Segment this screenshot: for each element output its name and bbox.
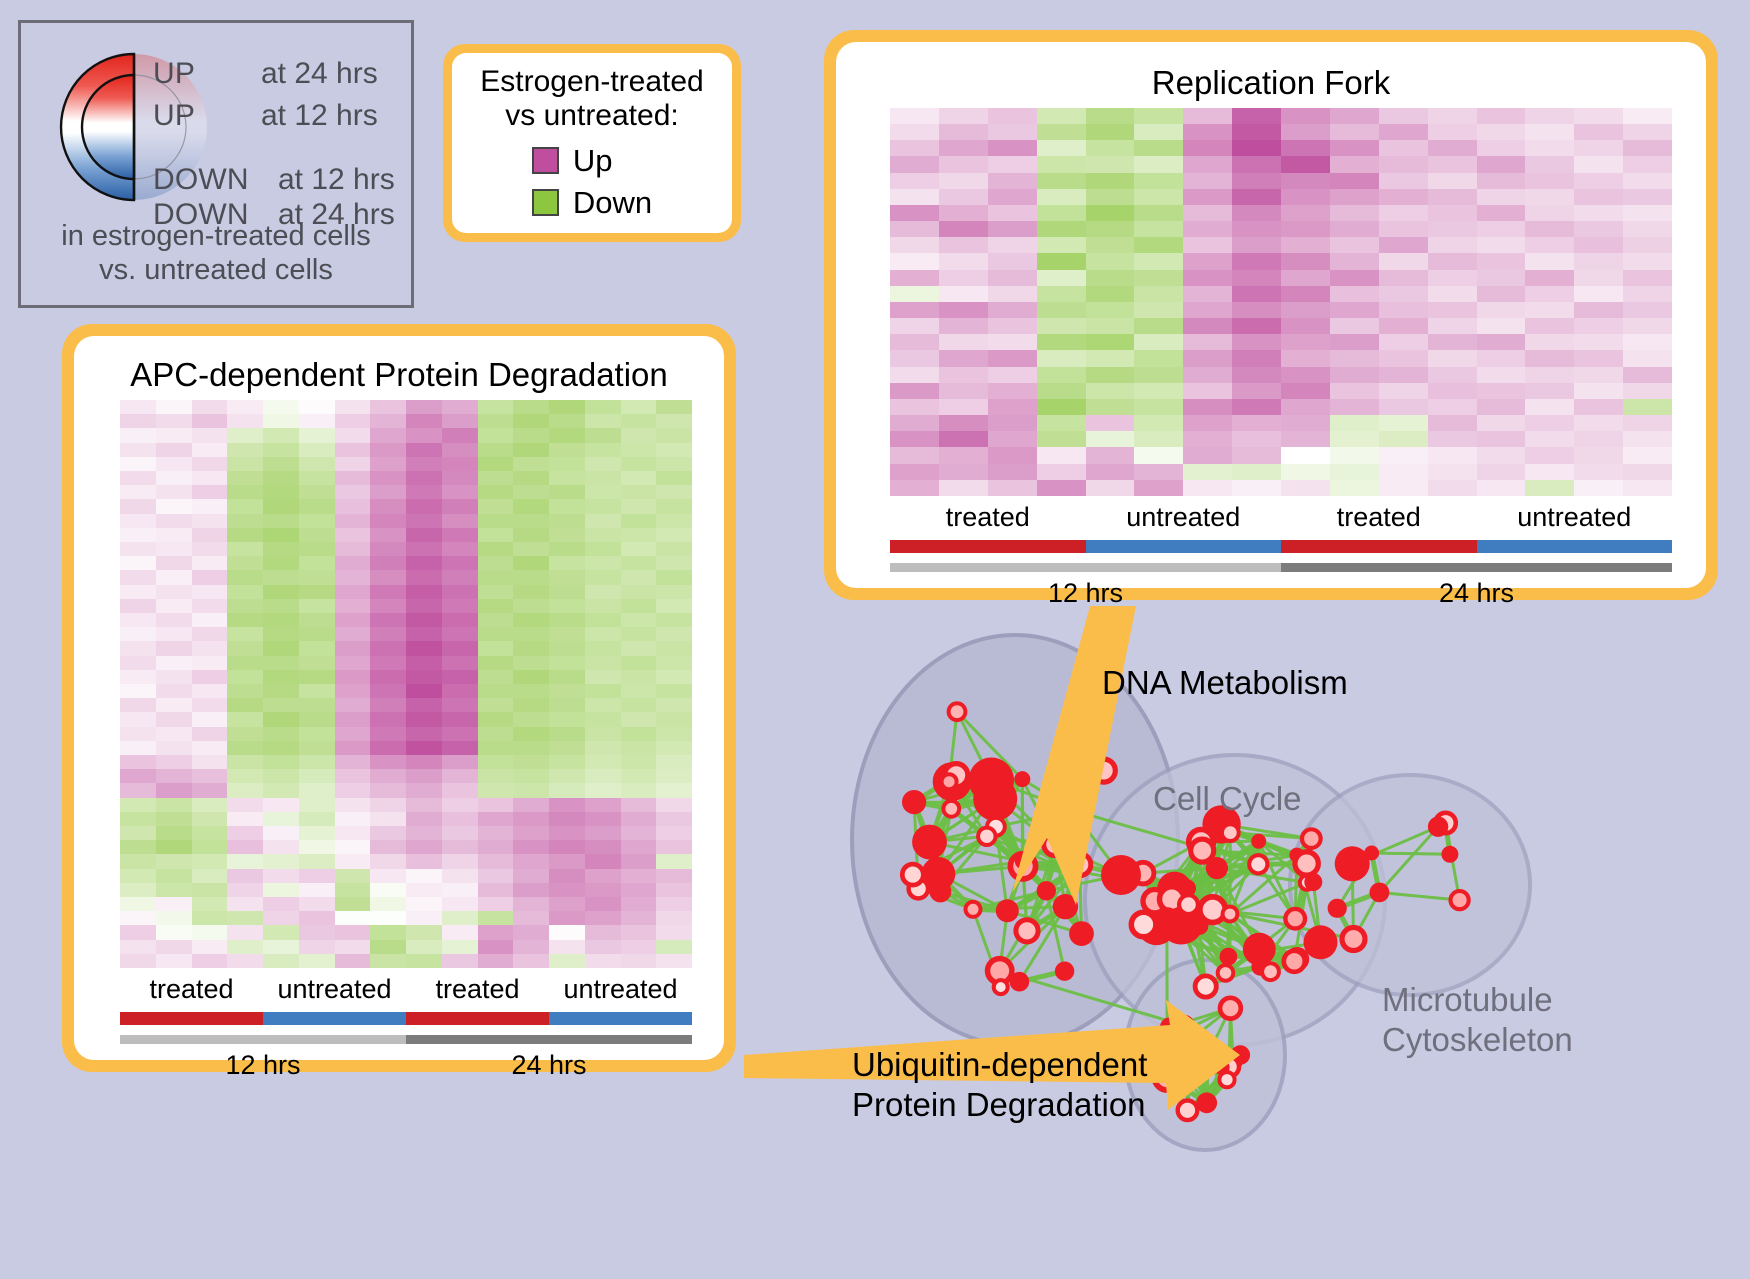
network-node[interactable] bbox=[1069, 854, 1091, 876]
network-node[interactable] bbox=[1175, 1017, 1193, 1035]
heatmap-cell bbox=[478, 911, 514, 925]
heatmap-cell bbox=[299, 698, 335, 712]
network-node[interactable] bbox=[1016, 920, 1038, 942]
network-node[interactable] bbox=[1243, 933, 1276, 966]
heatmap-cell bbox=[549, 499, 585, 513]
heatmap-cell bbox=[120, 897, 156, 911]
heatmap-cell bbox=[192, 443, 228, 457]
network-node[interactable] bbox=[1251, 834, 1266, 849]
network-node[interactable] bbox=[1222, 824, 1239, 841]
network-edge bbox=[1023, 865, 1080, 867]
network-node[interactable] bbox=[1206, 857, 1228, 879]
heatmap-cell bbox=[1379, 447, 1428, 463]
heatmap-cell bbox=[1525, 302, 1574, 318]
heatmap-cell bbox=[478, 599, 514, 613]
heatmap-cell bbox=[1232, 415, 1281, 431]
heatmap-cell bbox=[1281, 270, 1330, 286]
network-node[interactable] bbox=[1015, 854, 1030, 869]
heatmap-cell bbox=[263, 670, 299, 684]
heatmap-cell bbox=[156, 712, 192, 726]
heatmap-cell bbox=[227, 585, 263, 599]
network-node[interactable] bbox=[987, 818, 1005, 836]
heatmap-cell bbox=[656, 499, 692, 513]
heatmap-cell bbox=[513, 798, 549, 812]
network-edge bbox=[938, 874, 973, 909]
network-node[interactable] bbox=[912, 825, 947, 860]
heatmap-cell bbox=[335, 641, 371, 655]
heatmap-cell bbox=[1574, 124, 1623, 140]
network-node[interactable] bbox=[1178, 1101, 1198, 1121]
heatmap-cell bbox=[156, 428, 192, 442]
network-node[interactable] bbox=[942, 774, 957, 789]
heatmap-replication-fork bbox=[890, 108, 1672, 496]
network-node[interactable] bbox=[996, 899, 1019, 922]
heatmap-cell bbox=[1330, 270, 1379, 286]
heatmap-cell bbox=[1281, 124, 1330, 140]
network-node[interactable] bbox=[902, 864, 923, 885]
network-node[interactable] bbox=[1302, 829, 1321, 848]
heatmap-cell bbox=[263, 954, 299, 968]
heatmap-cell bbox=[156, 954, 192, 968]
network-edge bbox=[1297, 839, 1311, 856]
heatmap-cell bbox=[1183, 447, 1232, 463]
heatmap-cell bbox=[370, 826, 406, 840]
network-edge bbox=[1207, 1059, 1233, 1102]
heatmap-cell bbox=[478, 798, 514, 812]
heatmap-cell bbox=[406, 457, 442, 471]
heatmap-cell bbox=[1477, 237, 1526, 253]
heatmap-cell bbox=[299, 755, 335, 769]
network-node[interactable] bbox=[943, 801, 959, 817]
heatmap-cell bbox=[335, 528, 371, 542]
network-node[interactable] bbox=[1136, 905, 1176, 945]
network-node[interactable] bbox=[1179, 895, 1198, 914]
heatmap-cell bbox=[890, 480, 939, 496]
network-edge bbox=[1213, 910, 1230, 914]
network-node[interactable] bbox=[1222, 1050, 1237, 1065]
time-label: 12 hrs bbox=[120, 1050, 406, 1081]
heatmap-cell bbox=[656, 471, 692, 485]
heatmap-cell bbox=[120, 670, 156, 684]
heatmap-cell bbox=[478, 457, 514, 471]
heatmap-cell bbox=[299, 854, 335, 868]
heatmap-cell bbox=[335, 769, 371, 783]
network-node[interactable] bbox=[909, 879, 928, 898]
network-node[interactable] bbox=[1335, 846, 1370, 881]
heatmap-cell bbox=[1232, 140, 1281, 156]
heatmap-cell bbox=[406, 528, 442, 542]
network-edge bbox=[1167, 1041, 1193, 1078]
heatmap-cell bbox=[1623, 480, 1672, 496]
network-edge bbox=[1188, 1067, 1230, 1111]
network-edge bbox=[991, 780, 1072, 810]
heatmap-cell bbox=[1574, 464, 1623, 480]
heatmap-cell bbox=[1477, 253, 1526, 269]
heatmap-cell bbox=[478, 585, 514, 599]
treatment-bar bbox=[263, 1012, 406, 1025]
network-edge bbox=[991, 780, 996, 827]
heatmap-cell bbox=[1086, 286, 1135, 302]
heatmap-cell bbox=[335, 812, 371, 826]
network-node[interactable] bbox=[1262, 963, 1279, 980]
heatmap-cell bbox=[478, 542, 514, 556]
heatmap-cell bbox=[585, 925, 621, 939]
heatmap-cell bbox=[1623, 367, 1672, 383]
heatmap-cell bbox=[939, 399, 988, 415]
heatmap-cell bbox=[442, 698, 478, 712]
network-edge bbox=[949, 712, 957, 782]
heatmap-cell bbox=[227, 854, 263, 868]
network-node[interactable] bbox=[1220, 998, 1241, 1019]
heatmap-cell bbox=[299, 485, 335, 499]
network-node[interactable] bbox=[1178, 879, 1196, 897]
heatmap-cell bbox=[442, 812, 478, 826]
heatmap-cell bbox=[1281, 464, 1330, 480]
heatmap-cell bbox=[1623, 464, 1672, 480]
network-node[interactable] bbox=[1010, 972, 1030, 992]
heatmap-cell bbox=[335, 954, 371, 968]
network-node[interactable] bbox=[1451, 891, 1469, 909]
network-edge bbox=[1228, 914, 1230, 957]
heatmap-cell bbox=[1330, 205, 1379, 221]
heatmap-cell bbox=[656, 712, 692, 726]
network-node[interactable] bbox=[1069, 921, 1094, 946]
heatmap-cell bbox=[406, 925, 442, 939]
network-edge bbox=[1260, 919, 1295, 967]
heatmap-cell bbox=[549, 812, 585, 826]
heatmap-cell bbox=[1134, 286, 1183, 302]
heatmap-cell bbox=[335, 585, 371, 599]
network-node[interactable] bbox=[1285, 909, 1305, 929]
network-node[interactable] bbox=[988, 959, 1012, 983]
heatmap-cell bbox=[1379, 140, 1428, 156]
heatmap-cell bbox=[263, 656, 299, 670]
network-node[interactable] bbox=[1186, 1033, 1201, 1048]
network-node[interactable] bbox=[933, 762, 972, 801]
network-edge bbox=[1230, 841, 1259, 914]
network-edge bbox=[1201, 841, 1259, 842]
network-node[interactable] bbox=[949, 703, 966, 720]
treatment-bar bbox=[120, 1012, 263, 1025]
heatmap-cell bbox=[442, 499, 478, 513]
network-node[interactable] bbox=[1251, 958, 1269, 976]
network-node[interactable] bbox=[1284, 951, 1305, 972]
heatmap-cell bbox=[1183, 173, 1232, 189]
network-edge bbox=[949, 779, 1022, 782]
network-node[interactable] bbox=[1154, 1065, 1180, 1091]
heatmap-cell bbox=[1281, 415, 1330, 431]
network-edge bbox=[995, 799, 1022, 862]
heatmap-cell bbox=[1232, 189, 1281, 205]
heatmap-cell bbox=[890, 350, 939, 366]
heatmap-cell bbox=[156, 727, 192, 741]
heatmap-cell bbox=[988, 286, 1037, 302]
heatmap-cell bbox=[1428, 221, 1477, 237]
network-node[interactable] bbox=[1189, 830, 1214, 855]
network-node[interactable] bbox=[994, 980, 1008, 994]
heatmap-cell bbox=[549, 627, 585, 641]
network-node[interactable] bbox=[1200, 897, 1226, 923]
heatmap-cell bbox=[406, 826, 442, 840]
heatmap-cell bbox=[299, 940, 335, 954]
heatmap-cell bbox=[370, 457, 406, 471]
legend-swatch-down-icon bbox=[532, 189, 559, 216]
heatmap-cell bbox=[156, 656, 192, 670]
network-edge bbox=[1207, 1058, 1230, 1103]
network-edge bbox=[1213, 833, 1231, 910]
heatmap-cell bbox=[585, 443, 621, 457]
heatmap-cell bbox=[192, 585, 228, 599]
network-edge bbox=[1217, 855, 1297, 868]
heatmap-cell bbox=[1477, 447, 1526, 463]
network-node[interactable] bbox=[1222, 1049, 1243, 1070]
network-edge bbox=[1307, 864, 1314, 883]
network-node[interactable] bbox=[1092, 759, 1115, 782]
network-node[interactable] bbox=[1218, 965, 1234, 981]
heatmap-cell bbox=[406, 542, 442, 556]
heatmap-cell bbox=[478, 954, 514, 968]
heatmap-cell bbox=[120, 656, 156, 670]
heatmap-cell bbox=[1330, 431, 1379, 447]
network-node[interactable] bbox=[1157, 872, 1192, 907]
network-edge bbox=[1167, 1058, 1230, 1078]
heatmap-cell bbox=[1477, 286, 1526, 302]
network-node[interactable] bbox=[1304, 925, 1338, 959]
heatmap-cell bbox=[1086, 173, 1135, 189]
heatmap-cell bbox=[156, 755, 192, 769]
network-edge bbox=[1143, 868, 1217, 873]
heatmap-cell bbox=[988, 431, 1037, 447]
network-edge bbox=[1228, 949, 1259, 957]
network-edge bbox=[1187, 888, 1189, 904]
network-edge bbox=[1027, 865, 1080, 931]
network-edge bbox=[1297, 855, 1307, 863]
network-node[interactable] bbox=[1063, 801, 1082, 820]
network-edge bbox=[1226, 919, 1296, 973]
network-node[interactable] bbox=[1055, 962, 1074, 981]
network-node[interactable] bbox=[1220, 948, 1238, 966]
heatmap-cell bbox=[299, 727, 335, 741]
heatmap-cell bbox=[549, 585, 585, 599]
network-edge bbox=[1157, 1044, 1207, 1103]
heatmap-cell bbox=[1037, 399, 1086, 415]
heatmap-cell bbox=[1623, 270, 1672, 286]
heatmap-cell bbox=[656, 854, 692, 868]
heatmap-cell bbox=[370, 428, 406, 442]
heatmap-cell bbox=[156, 854, 192, 868]
network-edge bbox=[1157, 922, 1182, 925]
network-node[interactable] bbox=[1219, 1057, 1239, 1077]
network-node[interactable] bbox=[1014, 771, 1030, 787]
network-node[interactable] bbox=[1064, 863, 1081, 880]
heatmap-cell bbox=[1281, 302, 1330, 318]
network-edge bbox=[1065, 907, 1081, 934]
network-edge bbox=[1155, 901, 1213, 910]
network-edge bbox=[1155, 901, 1167, 919]
network-edge bbox=[1175, 864, 1259, 908]
heatmap-cell bbox=[988, 399, 1037, 415]
heatmap-cell bbox=[120, 826, 156, 840]
network-node[interactable] bbox=[1364, 846, 1379, 861]
network-edge bbox=[1027, 907, 1065, 931]
network-node[interactable] bbox=[1160, 1017, 1180, 1037]
color-key-footer: in estrogen-treated cells vs. untreated … bbox=[21, 219, 411, 287]
network-node[interactable] bbox=[1195, 976, 1216, 997]
network-node[interactable] bbox=[1131, 912, 1156, 937]
heatmap-cell bbox=[621, 911, 657, 925]
heatmap-cell bbox=[1477, 221, 1526, 237]
heatmap-cell bbox=[156, 443, 192, 457]
network-edge bbox=[1007, 891, 1046, 911]
network-edge bbox=[1170, 1027, 1207, 1103]
network-edge bbox=[1144, 925, 1229, 957]
network-node[interactable] bbox=[1295, 852, 1318, 875]
heatmap-cell bbox=[263, 400, 299, 414]
heatmap-cell bbox=[988, 318, 1037, 334]
heatmap-cell bbox=[621, 499, 657, 513]
heatmap-cell bbox=[442, 599, 478, 613]
network-edge bbox=[956, 775, 995, 799]
network-edge bbox=[1175, 909, 1182, 922]
heatmap-cell bbox=[1134, 415, 1183, 431]
heatmap-cell bbox=[1183, 205, 1232, 221]
heatmap-cell bbox=[585, 528, 621, 542]
network-node[interactable] bbox=[1149, 1036, 1164, 1051]
network-node[interactable] bbox=[966, 902, 981, 917]
network-node[interactable] bbox=[1159, 893, 1191, 925]
network-edge bbox=[1181, 922, 1260, 967]
heatmap-cell bbox=[513, 499, 549, 513]
network-node[interactable] bbox=[945, 764, 968, 787]
heatmap-cell bbox=[1134, 480, 1183, 496]
network-node[interactable] bbox=[1289, 848, 1304, 863]
heatmap-cell bbox=[1623, 415, 1672, 431]
heatmap-cell bbox=[299, 656, 335, 670]
network-node[interactable] bbox=[1101, 855, 1141, 895]
heatmap-cell bbox=[263, 499, 299, 513]
network-node[interactable] bbox=[1214, 1059, 1230, 1075]
network-node[interactable] bbox=[1428, 817, 1448, 837]
heatmap-cell bbox=[513, 457, 549, 471]
network-node[interactable] bbox=[969, 758, 1014, 803]
heatmap-cell bbox=[192, 499, 228, 513]
heatmap-cell bbox=[442, 443, 478, 457]
heatmap-cell bbox=[656, 514, 692, 528]
heatmap-cell bbox=[1525, 334, 1574, 350]
heatmap-replication-time-bars bbox=[890, 563, 1672, 572]
heatmap-cell bbox=[1330, 399, 1379, 415]
network-node[interactable] bbox=[978, 828, 995, 845]
heatmap-cell bbox=[120, 556, 156, 570]
heatmap-cell bbox=[1428, 253, 1477, 269]
heatmap-cell bbox=[1086, 447, 1135, 463]
heatmap-cell bbox=[1330, 221, 1379, 237]
network-node[interactable] bbox=[1328, 899, 1347, 918]
network-edge bbox=[951, 779, 1022, 809]
network-node[interactable] bbox=[1304, 873, 1322, 891]
heatmap-cell bbox=[1037, 302, 1086, 318]
heatmap-cell bbox=[192, 826, 228, 840]
network-node[interactable] bbox=[1370, 883, 1390, 903]
network-node[interactable] bbox=[1143, 890, 1166, 913]
network-edge bbox=[918, 809, 951, 889]
heatmap-cell bbox=[1428, 464, 1477, 480]
heatmap-cell bbox=[120, 911, 156, 925]
network-node[interactable] bbox=[1300, 875, 1314, 889]
network-node[interactable] bbox=[1053, 894, 1078, 919]
network-node[interactable] bbox=[973, 777, 1017, 821]
heatmap-cell bbox=[227, 613, 263, 627]
network-edge bbox=[1230, 914, 1271, 972]
network-node[interactable] bbox=[1223, 907, 1238, 922]
heatmap-cell bbox=[585, 485, 621, 499]
heatmap-cell bbox=[1086, 383, 1135, 399]
network-node[interactable] bbox=[1178, 1030, 1200, 1052]
heatmap-cell bbox=[621, 812, 657, 826]
heatmap-cell bbox=[406, 514, 442, 528]
heatmap-cell bbox=[335, 514, 371, 528]
heatmap-cell bbox=[1623, 383, 1672, 399]
heatmap-cell bbox=[406, 769, 442, 783]
network-node[interactable] bbox=[1190, 916, 1209, 935]
heatmap-cell bbox=[513, 599, 549, 613]
network-node[interactable] bbox=[1231, 1045, 1251, 1065]
network-node[interactable] bbox=[1132, 862, 1154, 884]
network-node[interactable] bbox=[1342, 928, 1365, 951]
heatmap-cell bbox=[1428, 399, 1477, 415]
heatmap-cell bbox=[585, 727, 621, 741]
network-edge bbox=[1193, 1041, 1227, 1080]
network-node[interactable] bbox=[902, 790, 926, 814]
network-node[interactable] bbox=[1160, 887, 1185, 912]
network-node[interactable] bbox=[1159, 900, 1204, 945]
network-node[interactable] bbox=[1191, 839, 1214, 862]
heatmap-cell bbox=[370, 514, 406, 528]
heatmap-cell bbox=[192, 613, 228, 627]
network-node[interactable] bbox=[1285, 947, 1309, 971]
network-node[interactable] bbox=[1155, 907, 1180, 932]
heatmap-cell bbox=[890, 124, 939, 140]
network-node[interactable] bbox=[1037, 881, 1056, 900]
heatmap-cell bbox=[1037, 286, 1086, 302]
heatmap-cell bbox=[988, 205, 1037, 221]
heatmap-cell bbox=[156, 585, 192, 599]
heatmap-cell bbox=[621, 443, 657, 457]
heatmap-cell bbox=[192, 570, 228, 584]
time-label: 24 hrs bbox=[1281, 578, 1672, 609]
network-node[interactable] bbox=[1196, 1092, 1217, 1113]
network-node[interactable] bbox=[1010, 854, 1035, 879]
network-node[interactable] bbox=[1249, 855, 1267, 873]
heatmap-cell bbox=[513, 684, 549, 698]
network-node[interactable] bbox=[922, 857, 956, 891]
heatmap-cell bbox=[263, 684, 299, 698]
heatmap-cell bbox=[192, 854, 228, 868]
network-node[interactable] bbox=[1219, 1072, 1234, 1087]
network-edge bbox=[930, 827, 996, 842]
heatmap-cell bbox=[890, 189, 939, 205]
network-node[interactable] bbox=[929, 880, 951, 902]
network-node[interactable] bbox=[1194, 1046, 1218, 1070]
heatmap-cell bbox=[621, 542, 657, 556]
network-node[interactable] bbox=[1044, 833, 1066, 855]
network-edge bbox=[1080, 865, 1121, 875]
heatmap-cell bbox=[585, 670, 621, 684]
network-node[interactable] bbox=[980, 793, 999, 812]
network-node[interactable] bbox=[1435, 813, 1455, 833]
heatmap-cell bbox=[192, 428, 228, 442]
network-node[interactable] bbox=[1441, 846, 1458, 863]
